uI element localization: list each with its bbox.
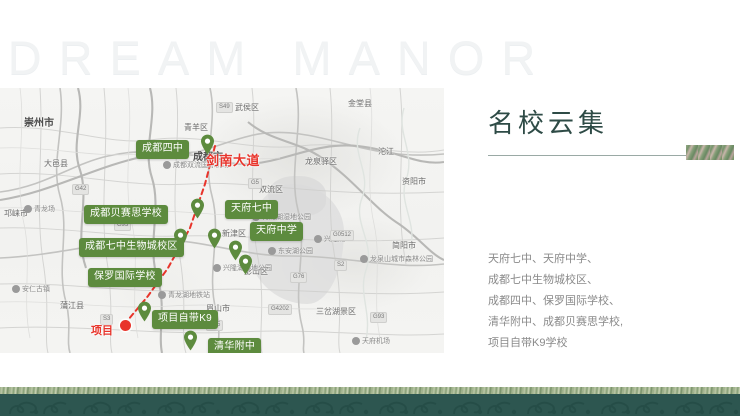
description-line: 清华附中、成都贝赛思学校,	[488, 312, 718, 333]
page-title: 名校云集	[488, 103, 608, 140]
school-pin-icon[interactable]	[137, 301, 152, 322]
poi-dot-icon	[360, 255, 368, 263]
school-marker-label[interactable]: 天府七中	[225, 200, 278, 219]
map-placename: 大邑县	[44, 158, 68, 169]
title-divider	[488, 155, 686, 156]
road-shield: G42	[72, 184, 89, 195]
map-poi: 青龙湖地铁站	[158, 290, 210, 300]
poi-dot-icon	[314, 235, 322, 243]
map-poi: 安仁古镇	[12, 284, 50, 294]
watermark-headline: DREAM MANOR	[0, 22, 560, 92]
map-placename: 金堂县	[348, 98, 372, 109]
map-placename: 三岔湖景区	[316, 306, 356, 317]
poi-label: 天府机场	[362, 336, 390, 346]
road-shield: S2	[334, 260, 347, 271]
poi-label: 青龙场	[34, 204, 55, 214]
damask-pattern-icon	[0, 394, 740, 416]
road-shield: G76	[290, 272, 307, 283]
map-placename: 资阳市	[402, 176, 426, 187]
project-marker-label: 项目	[91, 322, 113, 338]
map-poi: 天府机场	[352, 336, 390, 346]
road-shield: G4202	[268, 304, 292, 315]
poi-dot-icon	[158, 291, 166, 299]
map-placename: 蒲江县	[60, 300, 84, 311]
description-line: 天府七中、天府中学、	[488, 249, 718, 270]
project-marker-dot[interactable]	[120, 320, 131, 331]
map-placename: 简阳市	[392, 240, 416, 251]
school-description-list: 天府七中、天府中学、成都七中生物城校区、成都四中、保罗国际学校、清华附中、成都贝…	[488, 249, 718, 354]
map-poi: 东安湖公园	[268, 246, 313, 256]
road-shield: S49	[216, 102, 233, 113]
description-line: 成都七中生物城校区、	[488, 270, 718, 291]
school-marker-label[interactable]: 成都贝赛思学校	[84, 205, 168, 224]
school-marker-label[interactable]: 成都四中	[136, 140, 189, 159]
poi-label: 青龙湖地铁站	[168, 290, 210, 300]
road-shield: G5	[248, 178, 262, 189]
poi-dot-icon	[352, 337, 360, 345]
description-line: 项目自带K9学校	[488, 333, 718, 354]
poi-label: 安仁古镇	[22, 284, 50, 294]
map-poi: 龙泉山城市森林公园	[360, 254, 433, 264]
bottom-grass-strip	[0, 387, 740, 394]
school-pin-icon[interactable]	[207, 228, 222, 249]
highlight-road-label: 剑南大道	[206, 150, 260, 169]
school-marker-label[interactable]: 成都七中生物城校区	[79, 238, 184, 257]
road-shield: G0512	[330, 230, 354, 241]
poi-dot-icon	[24, 205, 32, 213]
school-marker-label[interactable]: 天府中学	[250, 222, 303, 241]
school-marker-label[interactable]: 保罗国际学校	[88, 268, 162, 287]
map-placename: 龙泉驿区	[305, 156, 337, 167]
map-placename: 武侯区	[235, 102, 259, 113]
map-placename: 沱江	[378, 146, 394, 157]
school-pin-icon[interactable]	[190, 198, 205, 219]
school-pin-icon[interactable]	[183, 330, 198, 351]
map-poi: 青龙场	[24, 204, 55, 214]
map-placename: 青羊区	[184, 122, 208, 133]
poi-label: 东安湖公园	[278, 246, 313, 256]
school-pin-icon[interactable]	[228, 240, 243, 261]
poi-dot-icon	[268, 247, 276, 255]
divider-ornament-icon	[686, 145, 734, 160]
map-placename: 新津区	[222, 228, 246, 239]
bottom-ornament-band	[0, 394, 740, 416]
description-line: 成都四中、保罗国际学校、	[488, 291, 718, 312]
map-placename: 双流区	[259, 184, 283, 195]
poi-dot-icon	[12, 285, 20, 293]
road-shield: G93	[370, 312, 387, 323]
school-marker-label[interactable]: 项目自带K9	[152, 310, 218, 329]
map-panel[interactable]: 崇州市成都市武侯区龙泉驿区双流区新津区眉山市简阳市资阳市邛崃市大邑县蒲江县彭山区…	[0, 88, 444, 353]
map-placename: 崇州市	[24, 114, 54, 129]
poi-dot-icon	[163, 161, 171, 169]
poi-dot-icon	[213, 264, 221, 272]
poi-label: 龙泉山城市森林公园	[370, 254, 433, 264]
school-marker-label[interactable]: 清华附中	[208, 338, 261, 353]
